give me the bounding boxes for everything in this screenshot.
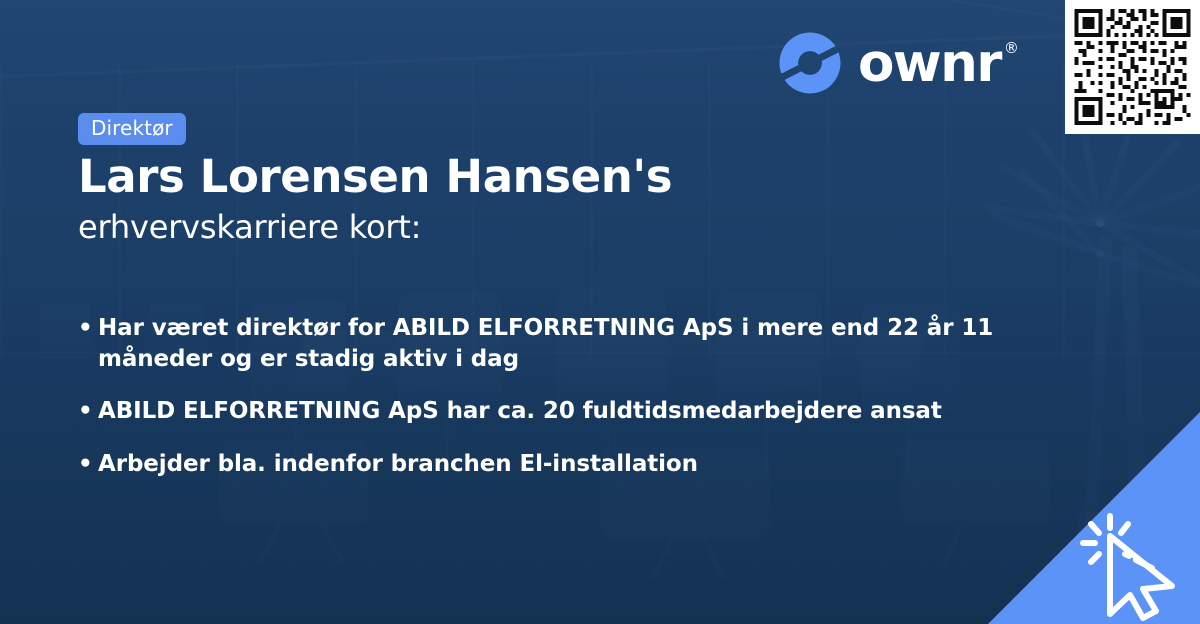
bullet-marker: • bbox=[78, 313, 98, 344]
qr-code-icon[interactable] bbox=[1065, 0, 1200, 134]
role-badge: Direktør bbox=[78, 113, 186, 145]
bullet-marker: • bbox=[78, 396, 98, 427]
career-fact-item: • Arbejder bla. indenfor branchen El-ins… bbox=[78, 449, 1008, 480]
career-fact-item: • Har været direktør for ABILD ELFORRETN… bbox=[78, 313, 1008, 374]
career-facts-list: • Har været direktør for ABILD ELFORRETN… bbox=[78, 313, 1008, 479]
career-card: Direktør Lars Lorensen Hansen's erhvervs… bbox=[0, 0, 1200, 624]
headline-block: Lars Lorensen Hansen's erhvervskarriere … bbox=[78, 152, 978, 247]
career-fact-text: ABILD ELFORRETNING ApS har ca. 20 fuldti… bbox=[98, 396, 1008, 427]
bullet-marker: • bbox=[78, 449, 98, 480]
registered-trademark-symbol: ® bbox=[1004, 41, 1019, 56]
ownr-wordmark-text: ownr bbox=[858, 33, 1001, 94]
ownr-circle-mark-icon bbox=[777, 30, 843, 96]
career-fact-text: Arbejder bla. indenfor branchen El-insta… bbox=[98, 449, 1008, 480]
ownr-wordmark: ownr ® bbox=[858, 37, 1019, 90]
person-name: Lars Lorensen Hansen's bbox=[78, 152, 978, 202]
click-cursor-icon bbox=[1080, 510, 1194, 622]
headline-subtitle: erhvervskarriere kort: bbox=[78, 208, 978, 246]
career-fact-item: • ABILD ELFORRETNING ApS har ca. 20 fuld… bbox=[78, 396, 1008, 427]
career-fact-text: Har været direktør for ABILD ELFORRETNIN… bbox=[98, 313, 1008, 374]
card-content: Direktør Lars Lorensen Hansen's erhvervs… bbox=[0, 0, 1200, 624]
ownr-logo[interactable]: ownr ® bbox=[777, 30, 1019, 96]
